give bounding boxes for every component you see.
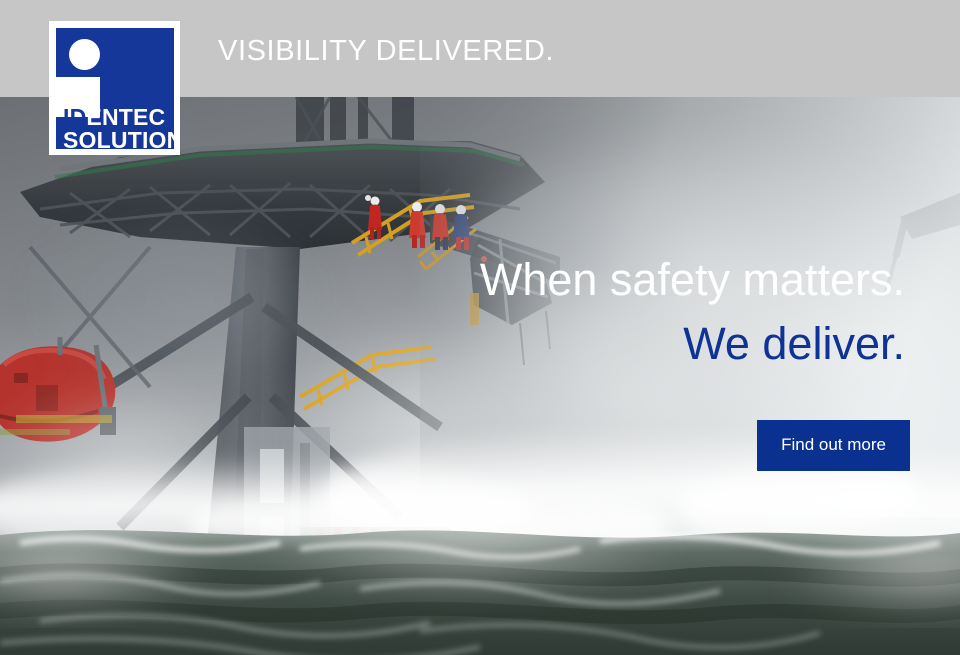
logo-i-dot-icon (69, 39, 100, 70)
find-out-more-button[interactable]: Find out more (757, 420, 910, 471)
company-logo[interactable]: IDENTEC SOLUTIONS (49, 21, 180, 155)
logo-wordmark-line1: IDENTEC (63, 105, 165, 129)
page-root: VISIBILITY DELIVERED. IDENTEC SOLUTIONS … (0, 0, 960, 655)
logo-plate: IDENTEC SOLUTIONS (56, 28, 174, 149)
hero-cta-wrapper: Find out more (757, 420, 910, 471)
hero-headline-primary: When safety matters. (345, 252, 905, 308)
hero-image (0, 97, 960, 655)
header-tagline: VISIBILITY DELIVERED. (218, 35, 554, 67)
logo-wordmark-line2: SOLUTIONS (63, 128, 174, 149)
hero-headline-block: When safety matters. We deliver. (345, 252, 905, 372)
hero-headline-secondary: We deliver. (345, 316, 905, 372)
